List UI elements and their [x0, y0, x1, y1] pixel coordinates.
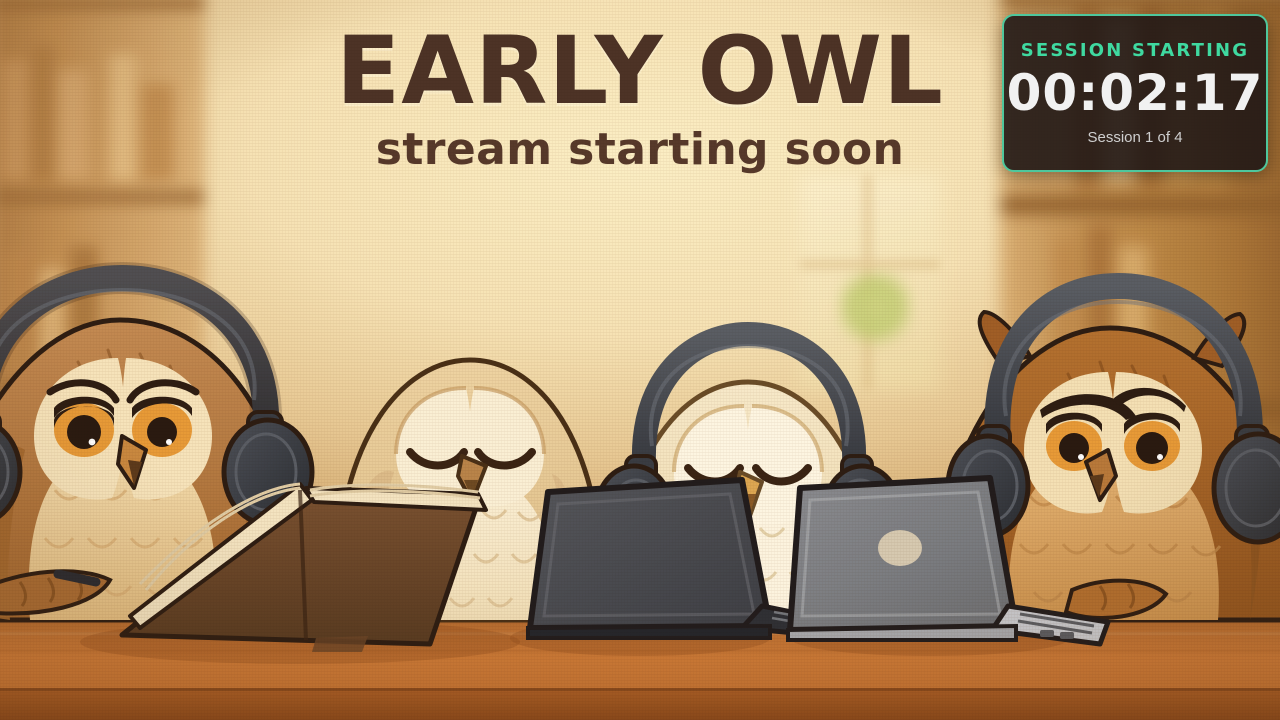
stream-starting-soon-screen: EARLY OWL stream starting soon SESSION S… — [0, 0, 1280, 720]
session-counter: Session 1 of 4 — [1087, 129, 1182, 146]
countdown-clock: 00:02:17 — [1007, 67, 1264, 120]
status-badge: SESSION STARTING — [1021, 40, 1250, 61]
session-timer-panel[interactable]: SESSION STARTING 00:02:17 Session 1 of 4 — [1002, 14, 1268, 172]
